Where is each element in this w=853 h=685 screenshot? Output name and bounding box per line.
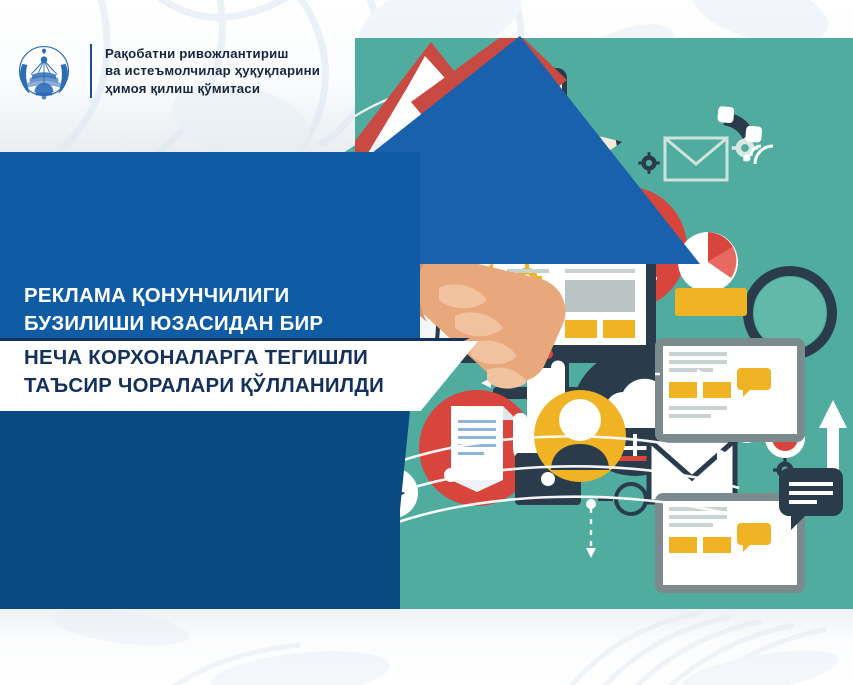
signal-waves — [751, 146, 773, 164]
logo-divider — [90, 44, 92, 98]
page-title-upper: РЕКЛАМА ҚОНУНЧИЛИГИ БУЗИЛИШИ ЮЗАСИДАН БИ… — [24, 283, 424, 338]
social-media-poster: Рақобатни ривожлантириш ва истеъмолчилар… — [0, 0, 853, 685]
envelope-outline — [665, 138, 727, 180]
footer-ornament-pattern — [0, 609, 853, 685]
footer-band: Қўмитанинг расмий ижтимоий тармоқлари: — [0, 609, 853, 685]
organization-title: Рақобатни ривожлантириш ва истеъмолчилар… — [105, 45, 320, 97]
yellow-bar — [675, 288, 747, 316]
tablet — [655, 338, 805, 442]
page-title-lower: НЕЧА КОРХОНАЛАРГА ТЕГИШЛИ ТАЪСИР ЧОРАЛАР… — [24, 345, 454, 400]
logo-row: Рақобатни ривожлантириш ва истеъмолчилар… — [14, 40, 320, 102]
up-arrow — [819, 400, 847, 474]
uzbekistan-state-emblem-icon — [14, 40, 74, 102]
